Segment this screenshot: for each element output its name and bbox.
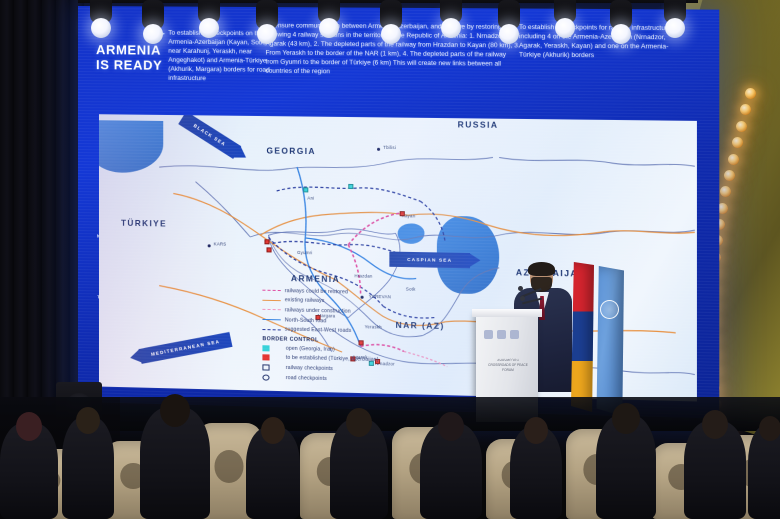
audience-member-head <box>160 394 190 427</box>
lectern-logo-1-icon <box>484 330 493 339</box>
chair-back-cutout <box>214 450 243 483</box>
lectern-logo-3-icon <box>510 330 519 339</box>
lectern-logos <box>484 330 532 339</box>
legend-swatch-existing-solid-icon <box>262 300 280 301</box>
legend-label-restored: railways could be restored <box>285 288 348 295</box>
audience-member-2 <box>62 417 114 519</box>
country-label-armenia: ARMENIA <box>291 274 340 284</box>
audience-member-head <box>702 410 728 439</box>
legend-label-open-border: open (Georgia, Iran) <box>286 345 335 352</box>
legend-swatch-north-south-solid-icon <box>262 319 280 320</box>
legend-swatch-to-be-established-icon <box>262 355 269 361</box>
un-flag-cloth <box>596 266 624 416</box>
audience-member-10 <box>748 425 780 519</box>
city-dot-kars <box>208 244 211 247</box>
audience-member-head <box>16 412 42 441</box>
spotlight-lens-icon <box>665 18 685 38</box>
audience-member-9 <box>684 421 746 519</box>
checkpoint-marker-gyumri <box>264 239 269 244</box>
audience-member-1 <box>0 423 58 519</box>
armenia-flag-cloth <box>570 262 594 412</box>
audience-member-4 <box>246 427 300 519</box>
legend-label-under-construction: railways under construction <box>285 307 351 314</box>
decor-light-bulb-2 <box>740 104 751 115</box>
spotlight-lens-icon <box>257 24 277 44</box>
decor-light-bulb-1 <box>745 88 756 99</box>
spotlight-lens-icon <box>91 18 111 38</box>
stage-spotlight-7 <box>438 0 464 40</box>
legend-label-road-checkpoints: road checkpoints <box>286 375 327 382</box>
spotlight-lens-icon <box>381 24 401 44</box>
speaker-hair <box>528 262 555 276</box>
audience-member-head <box>261 417 285 444</box>
checkpoint-marker-bagratashen <box>348 184 353 189</box>
legend-swatch-east-west-dashed-icon <box>262 329 280 330</box>
legend-label-railway-checkpoints: railway checkpoints <box>286 365 333 372</box>
legend-label-to-be-established: to be established (Türkiye, Azerbaijan) <box>286 355 379 363</box>
audience-member-head <box>524 417 548 444</box>
legend-swatch-railway-checkpoint-square-icon <box>262 364 269 370</box>
lectern-top <box>472 309 542 317</box>
un-emblem-icon <box>600 300 619 319</box>
decor-light-bulb-4 <box>732 137 743 148</box>
caspian-sea-arrow-banner: CASPIAN SEA <box>389 252 470 269</box>
microphone-head-1 <box>518 286 523 291</box>
audience-member-head <box>346 408 372 437</box>
stage-spotlight-1 <box>88 0 114 40</box>
stage-spotlight-11 <box>662 0 688 40</box>
spotlight-lens-icon <box>143 24 163 44</box>
microphone-head-2 <box>520 296 525 301</box>
screenshot-root: ARMENIA IS READY ➤ To establish 7 checkp… <box>0 0 780 519</box>
decor-light-bulb-3 <box>736 121 747 132</box>
city-label-tbilisi: Tbilisi <box>383 145 396 150</box>
legend-label-existing: existing railways <box>285 298 325 305</box>
country-label-turkiye: TÜRKIYE <box>121 219 167 229</box>
spotlight-lens-icon <box>611 24 631 44</box>
spotlight-lens-icon <box>441 18 461 38</box>
armenia-flag <box>570 262 594 412</box>
audience-member-6 <box>420 423 482 519</box>
legend-label-east-west: suggested East-West roads <box>285 327 351 335</box>
audience-member-3 <box>140 407 210 519</box>
stage-spotlight-4 <box>254 0 280 46</box>
spotlight-lens-icon <box>319 18 339 38</box>
audience-member-8 <box>596 415 656 519</box>
city-label-gyumri: Gyumri <box>297 250 312 255</box>
legend-label-north-south: North-South road <box>285 317 327 324</box>
stage-spotlight-5 <box>316 0 342 40</box>
audience-member-7 <box>510 427 562 519</box>
lectern-logo-2-icon <box>497 330 506 339</box>
decor-light-bulb-6 <box>724 170 735 181</box>
legend-swatch-road-checkpoint-circle-icon <box>262 374 269 380</box>
country-label-georgia: GEORGIA <box>266 146 315 156</box>
map-legend: railways could be restored existing rail… <box>262 286 436 387</box>
decor-light-bulb-7 <box>720 186 731 197</box>
stage-spotlight-2 <box>140 0 166 46</box>
lectern-sign: ՀԱՄԱԺՈՂՈՎ CROSSROADS OF PEACE FORUM <box>484 358 532 372</box>
spotlight-lens-icon <box>199 18 219 38</box>
stage-lighting-rig <box>78 0 698 50</box>
stage-spotlight-3 <box>196 0 222 40</box>
audience-member-5 <box>330 419 388 519</box>
stage-spotlight-9 <box>552 0 578 40</box>
city-label-ani: Ani <box>307 195 314 200</box>
checkpoint-marker-kayan <box>400 211 405 216</box>
stage-curtain-left <box>0 0 84 430</box>
stage-spotlight-8 <box>496 0 522 46</box>
legend-swatch-restored-dashed-icon <box>262 290 280 291</box>
legend-swatch-construction-dashed-icon <box>262 309 280 310</box>
audience-member-head <box>612 403 640 434</box>
un-flag <box>596 266 624 416</box>
audience-member-head <box>438 412 464 441</box>
caspian-sea-label: CASPIAN SEA <box>407 257 452 263</box>
lectern-sign-line2: CROSSROADS OF PEACE FORUM <box>484 363 532 373</box>
city-dot-tbilisi <box>377 148 380 151</box>
decor-light-bulb-5 <box>728 154 739 165</box>
stage-spotlight-10 <box>608 0 634 46</box>
checkpoint-marker-bavra <box>303 187 308 192</box>
checkpoint-marker-akhurik <box>266 247 271 252</box>
audience-foreground <box>0 397 780 519</box>
spotlight-lens-icon <box>555 18 575 38</box>
audience-member-head <box>759 416 780 441</box>
stage-spotlight-6 <box>378 0 404 46</box>
audience-member-head <box>76 407 100 434</box>
city-label-kars: KARS <box>214 241 227 246</box>
country-label-russia: RUSSIA <box>458 120 499 130</box>
city-label-hrazdan: Hrazdan <box>354 273 372 278</box>
spotlight-lens-icon <box>499 24 519 44</box>
legend-swatch-open-border-icon <box>262 345 269 351</box>
